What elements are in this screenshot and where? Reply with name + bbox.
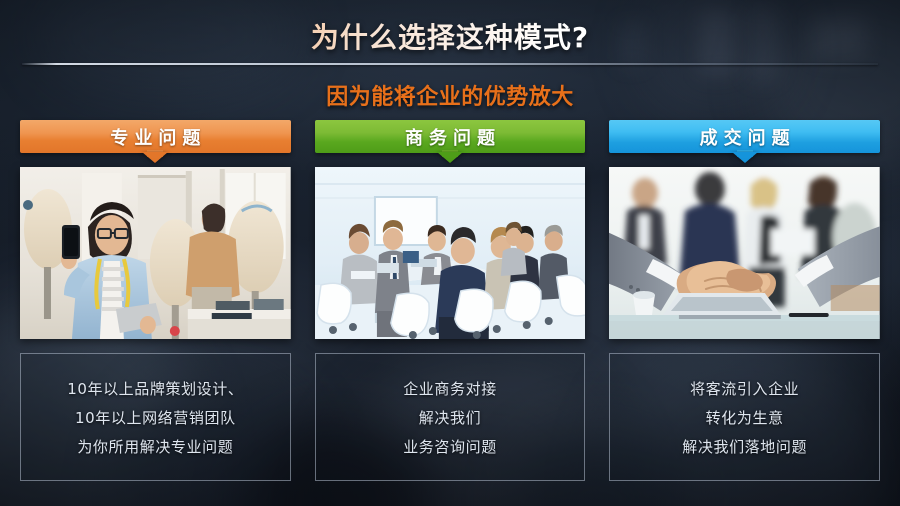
caption-line: 10年以上品牌策划设计、 [67, 378, 243, 399]
caption-line: 10年以上网络营销团队 [75, 407, 236, 428]
column-business: 商务问题 [315, 120, 586, 482]
banner-business[interactable]: 商务问题 [315, 120, 586, 153]
title-divider [22, 63, 878, 65]
caption-box-professional: 10年以上品牌策划设计、 10年以上网络营销团队 为你所用解决专业问题 [20, 353, 291, 481]
chevron-down-icon [142, 152, 168, 163]
banner-label: 专业问题 [104, 124, 206, 150]
columns-container: 专业问题 [20, 120, 880, 482]
caption-line: 解决我们落地问题 [682, 436, 807, 457]
photo-business-art [315, 167, 586, 339]
photo-deal-art [609, 167, 880, 339]
page-title: 为什么选择这种模式? [0, 16, 900, 56]
slide-canvas: 为什么选择这种模式? 因为能将企业的优势放大 专业问题 [0, 0, 900, 506]
caption-line: 业务咨询问题 [403, 436, 497, 457]
caption-line: 将客流引入企业 [690, 378, 799, 399]
page-subtitle: 因为能将企业的优势放大 [0, 79, 900, 111]
photo-deal [609, 167, 880, 339]
photo-professional-art [20, 167, 291, 339]
chevron-down-icon [437, 152, 463, 163]
caption-box-deal: 将客流引入企业 转化为生意 解决我们落地问题 [609, 353, 880, 481]
banner-label: 成交问题 [694, 124, 796, 150]
caption-line: 转化为生意 [706, 407, 784, 428]
caption-line: 解决我们 [419, 407, 481, 428]
chevron-down-icon [732, 152, 758, 163]
banner-professional[interactable]: 专业问题 [20, 120, 291, 153]
banner-deal[interactable]: 成交问题 [609, 120, 880, 153]
banner-professional-wrap: 专业问题 [20, 120, 291, 165]
caption-line: 企业商务对接 [403, 378, 497, 399]
column-professional: 专业问题 [20, 120, 291, 482]
column-deal: 成交问题 [609, 120, 880, 482]
banner-business-wrap: 商务问题 [315, 120, 586, 165]
photo-professional [20, 167, 291, 339]
banner-deal-wrap: 成交问题 [609, 120, 880, 165]
caption-line: 为你所用解决专业问题 [77, 436, 233, 457]
photo-business [315, 167, 586, 339]
caption-box-business: 企业商务对接 解决我们 业务咨询问题 [315, 353, 586, 481]
banner-label: 商务问题 [399, 124, 501, 150]
